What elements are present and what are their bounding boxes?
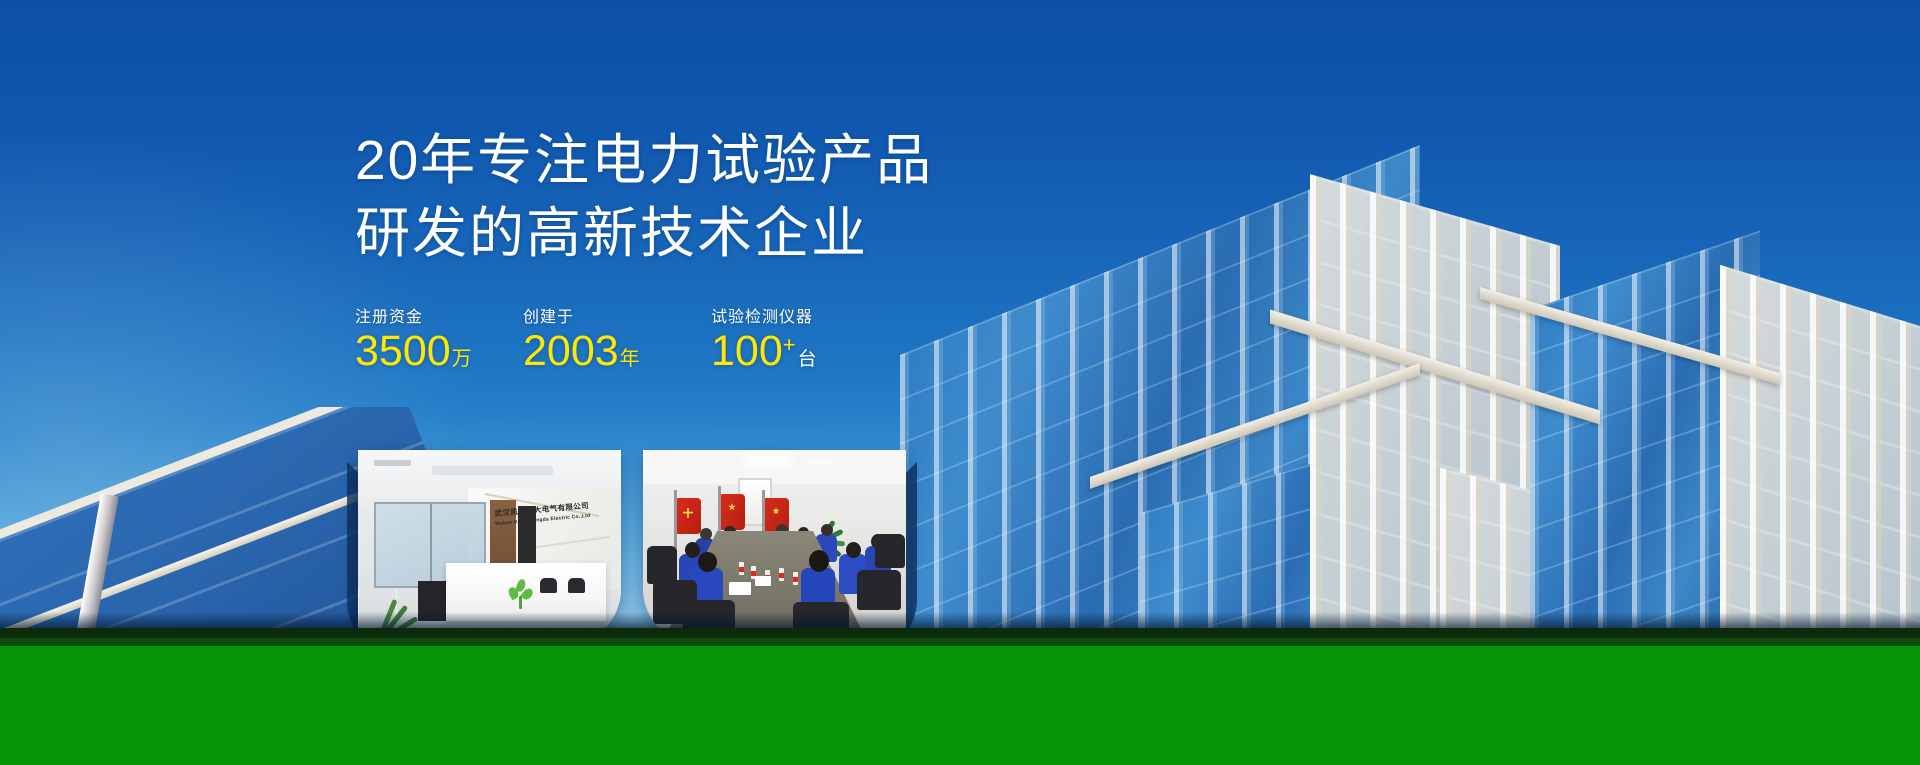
stat-label: 试验检测仪器 — [711, 303, 911, 327]
party-flag-icon — [677, 498, 701, 534]
band-dark-green-strip — [0, 638, 1920, 646]
hero-banner: 20年专注电力试验产品 研发的高新技术企业 注册资金 3500 万 创建于 20… — [0, 0, 1920, 765]
stats-row: 注册资金 3500 万 创建于 2003 年 试验检测仪器 100 + 台 — [355, 303, 1115, 374]
stat-label: 创建于 — [523, 303, 711, 327]
stat-value: 2003 年 — [523, 330, 711, 374]
band-green — [0, 646, 1920, 765]
stat-unit: 年 — [620, 349, 640, 369]
stat-value: 3500 万 — [355, 330, 523, 374]
stat-test-instruments: 试验检测仪器 100 + 台 — [711, 303, 911, 374]
band-darkest-strip — [0, 628, 1920, 638]
stat-founded-year: 创建于 2003 年 — [523, 303, 711, 374]
stat-number: 100 — [711, 330, 783, 374]
stat-superscript: + — [783, 334, 796, 356]
stat-label: 注册资金 — [355, 303, 523, 327]
national-flag-icon — [721, 494, 745, 530]
company-logo-icon — [508, 579, 534, 611]
stat-unit: 台 — [798, 350, 817, 369]
headline-line-1: 20年专注电力试验产品 — [355, 124, 1115, 197]
stat-number: 2003 — [523, 330, 619, 374]
stat-unit: 万 — [452, 349, 472, 369]
page-title: 20年专注电力试验产品 研发的高新技术企业 — [355, 124, 1115, 269]
stat-number: 3500 — [355, 330, 451, 374]
banner-copy: 20年专注电力试验产品 研发的高新技术企业 注册资金 3500 万 创建于 20… — [355, 124, 1115, 374]
stat-registered-capital: 注册资金 3500 万 — [355, 303, 523, 374]
headline-line-2: 研发的高新技术企业 — [355, 197, 1115, 270]
stat-value: 100 + 台 — [711, 330, 911, 374]
